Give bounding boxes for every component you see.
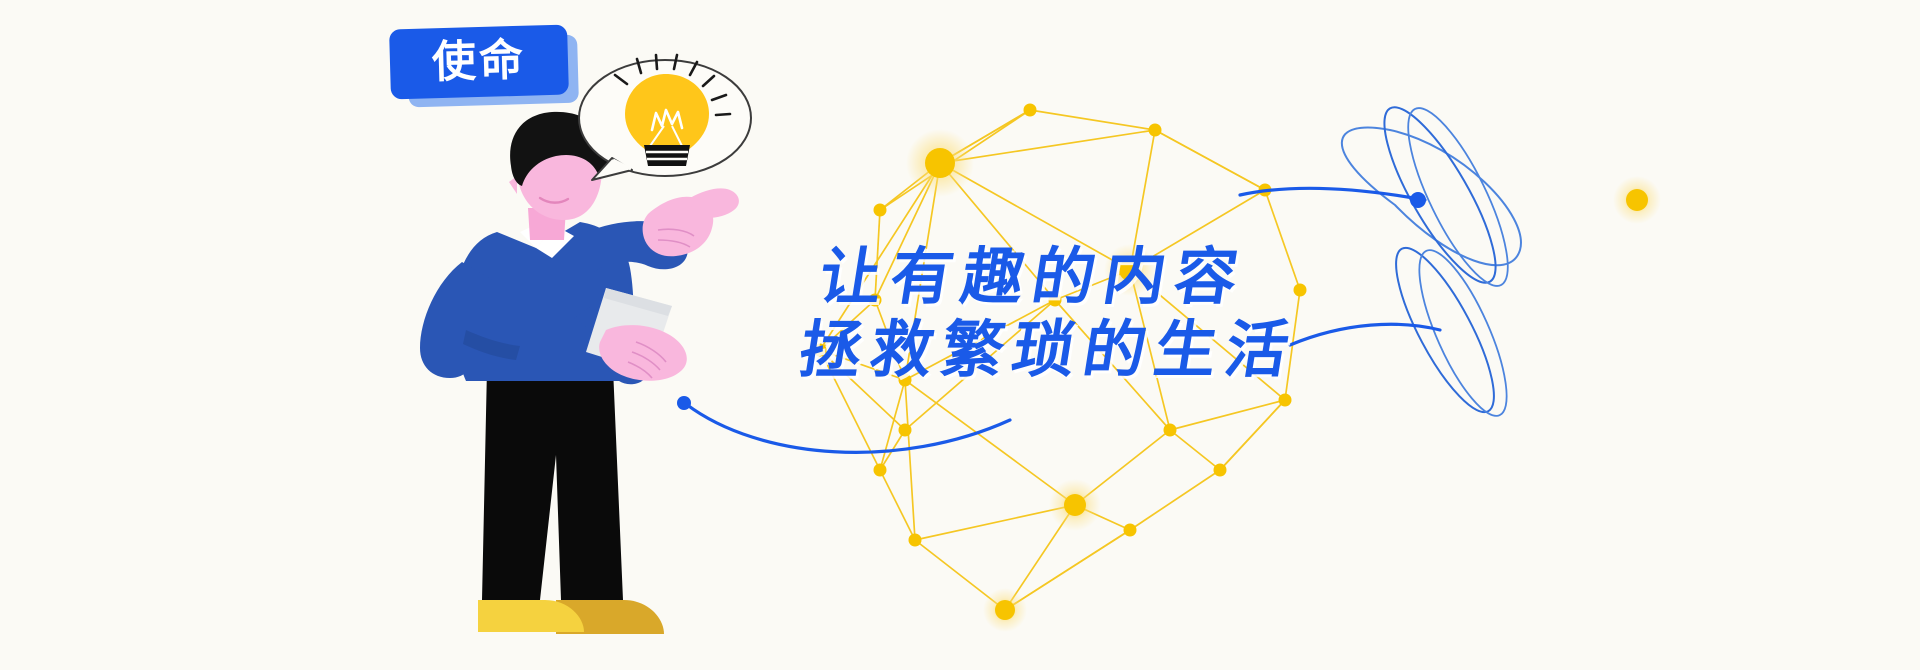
- character-shoes: [478, 600, 664, 634]
- mission-banner: 使命 让有趣的内容 拯救繁琐的生活: [0, 0, 1920, 670]
- network-nodes: [814, 104, 1662, 633]
- character-pointing-hand: [643, 188, 739, 256]
- character-illustration: [420, 112, 739, 634]
- yellow-node-network: [820, 110, 1300, 610]
- section-badge: 使命: [390, 15, 580, 110]
- badge-plate: 使命: [389, 25, 569, 100]
- blue-orbit-rings-upper: [1240, 94, 1526, 297]
- blue-swoosh-curve: [677, 396, 1010, 452]
- character-pants: [482, 368, 623, 600]
- illustration-canvas: [0, 0, 1920, 670]
- badge-label: 使命: [431, 39, 526, 86]
